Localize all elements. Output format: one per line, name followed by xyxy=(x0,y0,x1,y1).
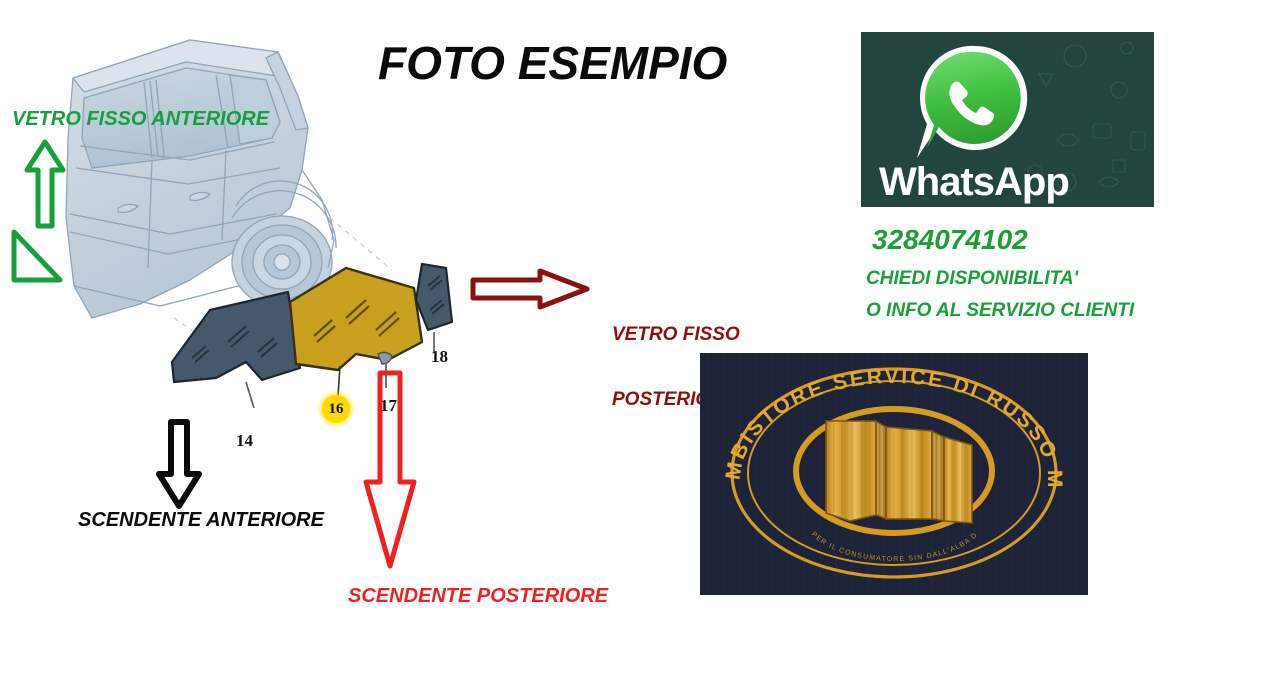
part-number-18: 18 xyxy=(431,347,448,367)
arrow-down-long-icon xyxy=(362,370,418,570)
part-number-16-badge: 16 xyxy=(322,395,350,423)
whatsapp-banner: WhatsApp xyxy=(861,32,1154,207)
cta-line-1: CHIEDI DISPONIBILITA' xyxy=(866,268,1078,290)
shop-logo: MRICAMBISTORE SERVICE DI RUSSO MARCO CI xyxy=(700,353,1088,595)
part-number-14: 14 xyxy=(236,431,253,451)
page-title: FOTO ESEMPIO xyxy=(378,36,798,90)
exploded-glass-parts xyxy=(150,250,490,430)
triangle-icon xyxy=(8,228,64,286)
whatsapp-icon xyxy=(907,40,1043,164)
cta-line-2: O INFO AL SERVIZIO CLIENTI xyxy=(866,300,1134,322)
label-vetro-fisso-posteriore-line1: VETRO FISSO xyxy=(612,324,740,346)
arrow-right-icon xyxy=(470,268,590,310)
phone-number: 3284074102 xyxy=(872,224,1028,256)
glass-part-14 xyxy=(172,292,300,408)
label-scendente-anteriore: SCENDENTE ANTERIORE xyxy=(78,509,324,532)
screenshot-canvas: 14 16 17 18 FOTO ESEMPIO VETRO FISSO ANT… xyxy=(0,0,1264,678)
arrow-up-icon xyxy=(24,138,66,230)
whatsapp-wordmark: WhatsApp xyxy=(879,160,1139,205)
label-vetro-fisso-anteriore: VETRO FISSO ANTERIORE xyxy=(12,108,269,131)
arrow-down-icon xyxy=(155,418,203,510)
label-scendente-posteriore: SCENDENTE POSTERIORE xyxy=(348,585,608,608)
